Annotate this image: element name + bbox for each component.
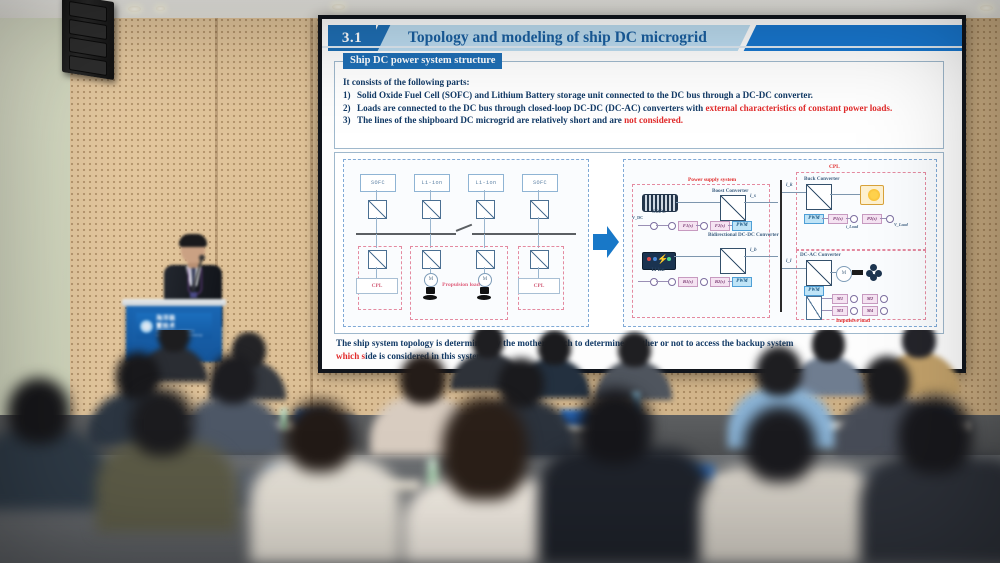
current-label-ik: i_k <box>786 182 793 188</box>
control-model-diagram: CPL Power supply system SOFC Boost Conve… <box>623 159 937 327</box>
summing-node <box>668 278 676 286</box>
propulsion-load-label: Propulsion load <box>440 282 482 289</box>
vdc-ref-label: V_DC <box>632 215 643 220</box>
slide-body-box: Ship DC power system structure It consis… <box>334 61 944 149</box>
summing-node <box>880 307 888 315</box>
feedback-wire <box>656 225 668 226</box>
wire <box>376 267 377 278</box>
bullet-text-plain: Loads are connected to the DC bus throug… <box>357 103 706 113</box>
ac-motor: M <box>836 266 852 282</box>
bullet-marker: 2) <box>343 102 357 114</box>
control-block-m3: M3 <box>832 306 848 316</box>
buck-converter-label: Buck Converter <box>804 176 840 182</box>
mother-switch <box>456 224 472 232</box>
propeller-shaft-1 <box>426 287 435 294</box>
power-supply-label: Power supply system <box>688 177 736 183</box>
wire <box>830 194 860 195</box>
wire <box>744 202 778 203</box>
bullet-text-plain: The lines of the shipboard DC microgrid … <box>357 115 624 125</box>
buck-converter-block <box>806 184 832 210</box>
wire <box>830 272 836 273</box>
cpl-load-left: CPL <box>356 278 398 294</box>
wire <box>782 192 806 193</box>
resistive-load-icon <box>860 185 884 205</box>
current-label-is: i_s <box>750 193 756 199</box>
converter-block <box>476 200 495 219</box>
attendee-head <box>538 330 571 365</box>
control-block-b2: B2(s) <box>710 277 730 287</box>
attendee-shoulders <box>0 430 106 510</box>
wire <box>538 217 539 233</box>
section-tag: Ship DC power system structure <box>343 53 502 69</box>
ceiling-downlight <box>128 6 141 12</box>
wire <box>782 268 806 269</box>
dc-bus-right <box>472 233 576 235</box>
attendee-head <box>812 330 845 362</box>
attendee-head <box>864 356 910 406</box>
current-label-ib: i_b <box>750 247 757 253</box>
cpl-section-label: CPL <box>829 164 840 170</box>
source-block-liion-1: Li-ion <box>414 174 450 192</box>
pwm-block-buck: PWM <box>804 214 824 224</box>
control-block-m1: M1 <box>832 294 848 304</box>
presenter-badge <box>190 292 197 298</box>
pwm-block-dcac: PWM <box>804 286 824 296</box>
converter-block <box>530 200 549 219</box>
feedback-wire <box>638 281 650 282</box>
wire <box>376 190 377 200</box>
attendee-head <box>898 396 972 474</box>
cpl-load-right: CPL <box>518 278 560 294</box>
control-block-m2: M2 <box>862 294 878 304</box>
iload-label: i_Load <box>846 224 858 229</box>
bullet-text-highlight: external characteristics of constant pow… <box>706 103 893 113</box>
attendee-head <box>130 388 194 456</box>
ceiling-downlight <box>332 4 345 10</box>
feedback-wire <box>880 218 886 219</box>
dcac-converter-block <box>806 260 832 286</box>
attendee-head-ponytail <box>442 396 528 500</box>
attendee-shoulders <box>538 448 710 563</box>
feedback-wire <box>846 218 850 219</box>
control-block-p2: P2(s) <box>862 214 882 224</box>
attendee-head <box>744 406 816 482</box>
wire <box>676 202 720 203</box>
feedback-wire <box>638 225 650 226</box>
wire <box>674 256 720 257</box>
load-converter <box>422 250 441 269</box>
summing-node <box>650 222 658 230</box>
summing-node <box>886 215 894 223</box>
summing-node <box>700 222 708 230</box>
feedback-wire <box>822 218 828 219</box>
presentation-slide: 3.1 Topology and modeling of ship DC mic… <box>322 19 962 369</box>
attendee-head <box>400 354 446 404</box>
title-underline <box>322 46 962 48</box>
source-block-sofc-1: SOFC <box>360 174 396 192</box>
transition-arrow-icon <box>593 225 619 259</box>
boost-converter-label: Boost Converter <box>712 188 748 194</box>
feedback-wire <box>696 225 700 226</box>
control-block-f2: F2(s) <box>710 221 730 231</box>
attendee-head <box>578 388 652 464</box>
bullet-list: It consists of the following parts: 1) S… <box>343 76 937 127</box>
load-converter <box>368 250 387 269</box>
attendee-head <box>618 332 651 367</box>
converter-block <box>368 200 387 219</box>
load-converter <box>476 250 495 269</box>
slide-diagram-box: SOFC Li-ion Li-ion SOFC <box>334 152 944 334</box>
control-block-b1: B1(s) <box>678 277 698 287</box>
bullet-marker: 3) <box>343 114 357 126</box>
bullet-intro: It consists of the following parts: <box>343 76 937 88</box>
attendee-head <box>286 400 354 472</box>
audience <box>0 330 1000 563</box>
bullet-item: 1) Solid Oxide Fuel Cell (SOFC) and Lith… <box>343 89 937 101</box>
summing-node <box>668 222 676 230</box>
feedback-wire <box>728 225 732 226</box>
control-block-f1: F1(s) <box>678 221 698 231</box>
projection-screen: 3.1 Topology and modeling of ship DC mic… <box>318 15 966 373</box>
liion-caption: Li-ion <box>642 268 674 273</box>
fan-load-icon <box>866 264 882 280</box>
wire <box>538 190 539 200</box>
bidirectional-converter-label: Bidirectional DC-DC Converter <box>708 232 779 238</box>
dc-bus-left <box>356 233 456 235</box>
podium-top <box>122 299 226 306</box>
dc-bus-vertical <box>780 180 782 312</box>
wire <box>376 217 377 233</box>
pwm-block-bidir: PWM <box>732 277 752 287</box>
source-block-liion-2: Li-ion <box>468 174 504 192</box>
bullet-text-highlight: not considered. <box>624 115 683 125</box>
wire <box>484 190 485 200</box>
bullet-text: Solid Oxide Fuel Cell (SOFC) and Lithium… <box>357 89 937 101</box>
attendee-head <box>210 354 256 404</box>
motor-shaft <box>852 270 863 275</box>
bidirectional-converter-block <box>720 248 746 274</box>
pwm-block-boost: PWM <box>732 221 752 231</box>
attendee-head <box>498 358 544 408</box>
propeller-blade-2 <box>477 295 491 300</box>
podium-sign-line1: 海洋装 <box>156 315 203 323</box>
presenter-hair <box>179 234 207 247</box>
summing-node <box>650 278 658 286</box>
propeller-blade-1 <box>423 295 437 300</box>
summing-node <box>850 215 858 223</box>
loudspeaker-array <box>62 0 114 80</box>
bullet-marker: 1) <box>343 89 357 101</box>
attendee-head <box>902 330 936 358</box>
summing-node <box>700 278 708 286</box>
attendee-head <box>756 346 802 396</box>
conference-photo: 3.1 Topology and modeling of ship DC mic… <box>0 0 1000 563</box>
vload-label: V_Load <box>894 222 908 227</box>
wire <box>744 256 778 257</box>
feedback-wire <box>728 281 732 282</box>
bullet-text: Loads are connected to the DC bus throug… <box>357 102 937 114</box>
source-block-sofc-2: SOFC <box>522 174 558 192</box>
load-converter <box>530 250 549 269</box>
attendee-shoulders <box>250 458 400 563</box>
wire <box>538 267 539 278</box>
current-label-il: i_l <box>786 258 791 264</box>
impulsive-load-label: Impulsive load <box>836 318 870 324</box>
attendee-head <box>8 378 70 444</box>
ceiling-sensor <box>156 6 165 11</box>
converter-block <box>422 200 441 219</box>
park-transform-block <box>806 296 822 320</box>
bullet-text: The lines of the shipboard DC microgrid … <box>357 114 937 126</box>
motor-1: M <box>424 273 438 287</box>
attendee-head <box>472 330 504 358</box>
bullet-item: 3) The lines of the shipboard DC microgr… <box>343 114 937 126</box>
wire <box>430 190 431 200</box>
wire <box>430 217 431 233</box>
dcac-converter-label: DC-AC Converter <box>800 252 841 258</box>
ceiling-downlight <box>980 5 993 11</box>
summing-node <box>850 295 858 303</box>
bullet-item: 2) Loads are connected to the DC bus thr… <box>343 102 937 114</box>
boost-converter-block <box>720 195 746 221</box>
summing-node <box>880 295 888 303</box>
feedback-wire <box>656 281 668 282</box>
wire <box>484 217 485 233</box>
control-block-p1: P1(s) <box>828 214 848 224</box>
summing-node <box>850 307 858 315</box>
podium-sign-line2: 置技术 <box>156 323 203 331</box>
sofc-caption: SOFC <box>642 210 676 215</box>
control-block-m4: M4 <box>862 306 878 316</box>
slide-title-bar: 3.1 Topology and modeling of ship DC mic… <box>322 25 962 53</box>
ship-topology-diagram: SOFC Li-ion Li-ion SOFC <box>343 159 589 327</box>
lightning-bolt-icon: ⚡ <box>657 255 668 264</box>
